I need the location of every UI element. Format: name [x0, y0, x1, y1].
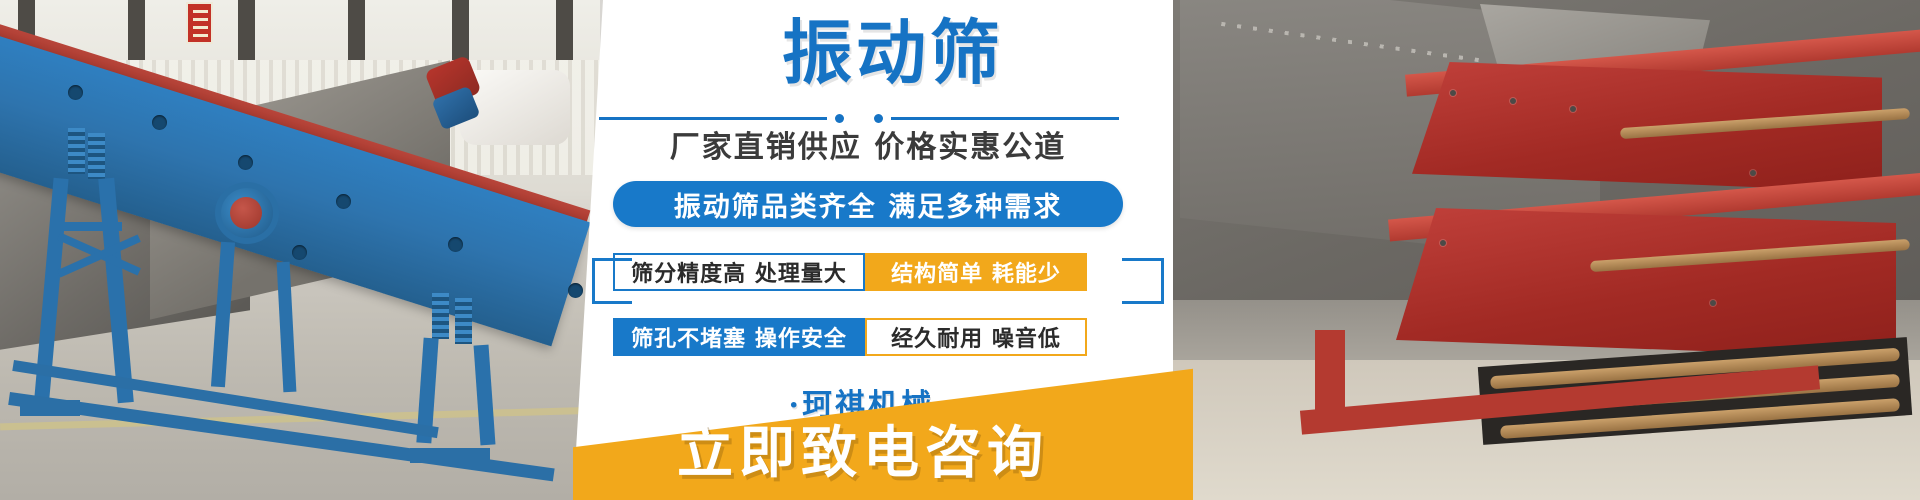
- support-spring: [432, 293, 449, 339]
- left-product-photo: [0, 0, 600, 500]
- body-hole: [152, 115, 167, 130]
- exciter-drum: [215, 182, 279, 244]
- leg-crossbar: [50, 222, 122, 231]
- wall-sign: [186, 2, 213, 44]
- divider-dot: [874, 114, 883, 123]
- cta-text: 立即致电咨询: [583, 420, 1143, 486]
- frame-upright: [1315, 330, 1345, 420]
- bolt: [1450, 90, 1456, 96]
- wall-beam: [128, 0, 145, 60]
- bracket-vertical: [1161, 258, 1164, 304]
- feature-2-right: 经久耐用 噪音低: [865, 318, 1087, 356]
- bracket-horizontal: [1122, 258, 1164, 261]
- wall-beam: [238, 0, 255, 60]
- support-spring: [68, 128, 85, 174]
- title-divider: [599, 113, 1119, 123]
- bolt: [1750, 170, 1756, 176]
- divider-dot: [835, 114, 844, 123]
- base-foot: [20, 400, 80, 416]
- bolt: [1570, 106, 1576, 112]
- body-hole: [568, 283, 583, 298]
- divider-line-left: [599, 117, 827, 120]
- body-hole: [336, 194, 351, 209]
- wall-beam: [556, 0, 573, 60]
- divider-line-right: [891, 117, 1119, 120]
- page-title: 振动筛: [643, 14, 1143, 92]
- bracket-horizontal: [592, 258, 632, 261]
- bracket-horizontal: [592, 301, 632, 304]
- wall-beam: [452, 0, 469, 60]
- body-hole: [292, 245, 307, 260]
- support-spring: [455, 298, 472, 344]
- wall-beam: [348, 0, 365, 60]
- highlight-pill: 振动筛品类齐全 满足多种需求: [613, 181, 1123, 227]
- feature-1-left: 筛分精度高 处理量大: [613, 253, 865, 291]
- bolt: [1510, 98, 1516, 104]
- bracket-vertical: [592, 258, 595, 304]
- connector-bracket-right: [1122, 258, 1164, 304]
- support-spring: [88, 133, 105, 179]
- body-hole: [448, 237, 463, 252]
- feature-1-right: 结构简单 耗能少: [865, 253, 1087, 291]
- promo-banner: 振动筛 厂家直销供应 价格实惠公道 振动筛品类齐全 满足多种需求 筛分精度高 处…: [0, 0, 1920, 500]
- feature-2-left: 筛孔不堵塞 操作安全: [613, 318, 865, 356]
- body-hole: [238, 155, 253, 170]
- screen-deck-2: [1396, 208, 1896, 358]
- feature-row-2: 筛孔不堵塞 操作安全 经久耐用 噪音低: [613, 318, 1087, 356]
- right-product-photo: [1150, 0, 1920, 500]
- connector-bracket-left: [592, 258, 632, 304]
- body-hole: [68, 85, 83, 100]
- bracket-horizontal: [1122, 301, 1164, 304]
- feature-row-1: 筛分精度高 处理量大 结构简单 耗能少: [613, 253, 1087, 291]
- bolt: [1440, 240, 1446, 246]
- bolt: [1710, 300, 1716, 306]
- base-foot: [410, 448, 490, 463]
- subtitle: 厂家直销供应 价格实惠公道: [603, 128, 1133, 168]
